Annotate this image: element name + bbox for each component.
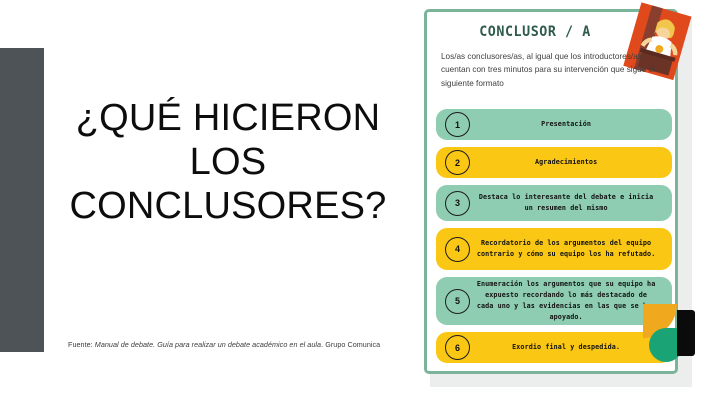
step-row[interactable]: 2Agradecimientos: [436, 147, 672, 178]
source-work-title: Manual de debate. Guía para realizar un …: [95, 340, 321, 349]
step-label: Recordatorio de los argumentos del equip…: [475, 238, 661, 260]
page-title-line-2: LOS: [52, 140, 404, 184]
step-number-badge: 3: [445, 191, 470, 216]
page-title-line-1: ¿QUÉ HICIERON: [52, 96, 404, 140]
step-number-badge: 6: [445, 335, 470, 360]
steps-list: 1Presentación2Agradecimientos3Destaca lo…: [436, 109, 672, 370]
step-label: Destaca lo interesante del debate e inic…: [475, 192, 661, 214]
left-accent-bar: [0, 48, 44, 352]
decorative-shapes: [639, 304, 711, 374]
step-row[interactable]: 6Exordio final y despedida.: [436, 332, 672, 363]
step-row[interactable]: 5Enumeración los argumentos que su equip…: [436, 277, 672, 325]
slide-canvas: ¿QUÉ HICIERONLOSCONCLUSORES? Fuente: Man…: [0, 0, 720, 405]
page-title: ¿QUÉ HICIERONLOSCONCLUSORES?: [52, 96, 404, 228]
source-suffix: . Grupo Comunica: [321, 340, 380, 349]
step-number-badge: 1: [445, 112, 470, 137]
step-number-badge: 5: [445, 289, 470, 314]
step-label: Exordio final y despedida.: [475, 342, 661, 353]
infographic-card: CONCLUSOR / A Los/as conclusores/as, al …: [424, 9, 692, 387]
source-prefix: Fuente:: [68, 340, 95, 349]
card-title: CONCLUSOR / A: [445, 24, 625, 40]
step-label: Presentación: [475, 119, 661, 130]
step-row[interactable]: 1Presentación: [436, 109, 672, 140]
step-number-badge: 2: [445, 150, 470, 175]
decorative-black-bar: [677, 310, 695, 356]
step-row[interactable]: 3Destaca lo interesante del debate e ini…: [436, 185, 672, 221]
card-intro-text: Los/as conclusores/as, al igual que los …: [441, 50, 663, 90]
step-number-badge: 4: [445, 237, 470, 262]
source-citation: Fuente: Manual de debate. Guía para real…: [68, 341, 408, 350]
step-label: Agradecimientos: [475, 157, 661, 168]
page-title-line-3: CONCLUSORES?: [52, 184, 404, 228]
step-label: Enumeración los argumentos que su equipo…: [475, 279, 661, 323]
step-row[interactable]: 4Recordatorio de los argumentos del equi…: [436, 228, 672, 270]
card-frame: CONCLUSOR / A Los/as conclusores/as, al …: [424, 9, 678, 374]
